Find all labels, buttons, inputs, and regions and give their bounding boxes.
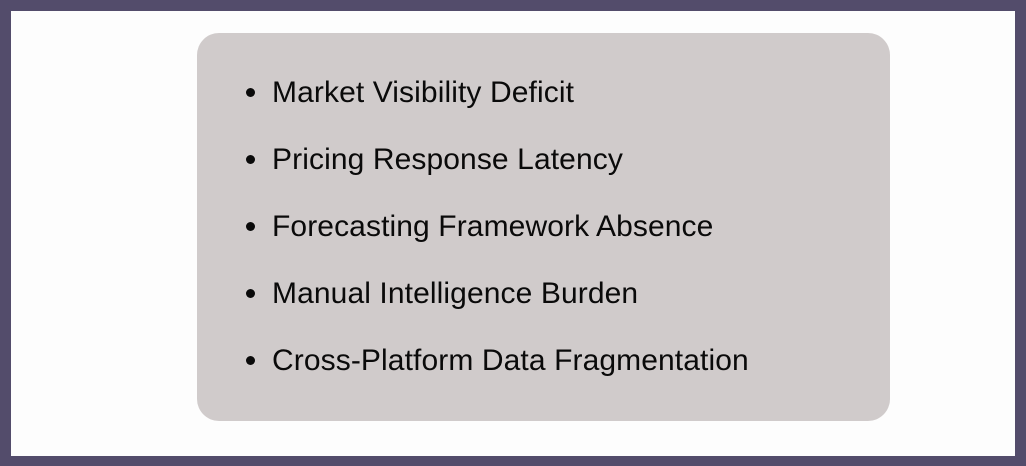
slide-canvas: Market Visibility Deficit Pricing Respon…	[11, 11, 1015, 456]
list-item-label: Forecasting Framework Absence	[272, 211, 713, 243]
list-item[interactable]: Manual Intelligence Burden	[246, 274, 856, 314]
list-item-label: Cross-Platform Data Fragmentation	[272, 345, 749, 377]
bullet-dot-icon	[246, 155, 255, 164]
bullet-list-card: Market Visibility Deficit Pricing Respon…	[197, 33, 890, 421]
list-item[interactable]: Forecasting Framework Absence	[246, 207, 856, 247]
bullet-dot-icon	[246, 289, 255, 298]
list-item[interactable]: Market Visibility Deficit	[246, 73, 856, 113]
list-item[interactable]: Cross-Platform Data Fragmentation	[246, 341, 856, 381]
list-item-label: Manual Intelligence Burden	[272, 278, 638, 310]
bullet-dot-icon	[246, 88, 255, 97]
list-item-label: Pricing Response Latency	[272, 144, 623, 176]
slide-frame: Market Visibility Deficit Pricing Respon…	[0, 0, 1026, 466]
bullet-dot-icon	[246, 222, 255, 231]
bullet-dot-icon	[246, 356, 255, 365]
list-item[interactable]: Pricing Response Latency	[246, 140, 856, 180]
list-item-label: Market Visibility Deficit	[272, 77, 574, 109]
